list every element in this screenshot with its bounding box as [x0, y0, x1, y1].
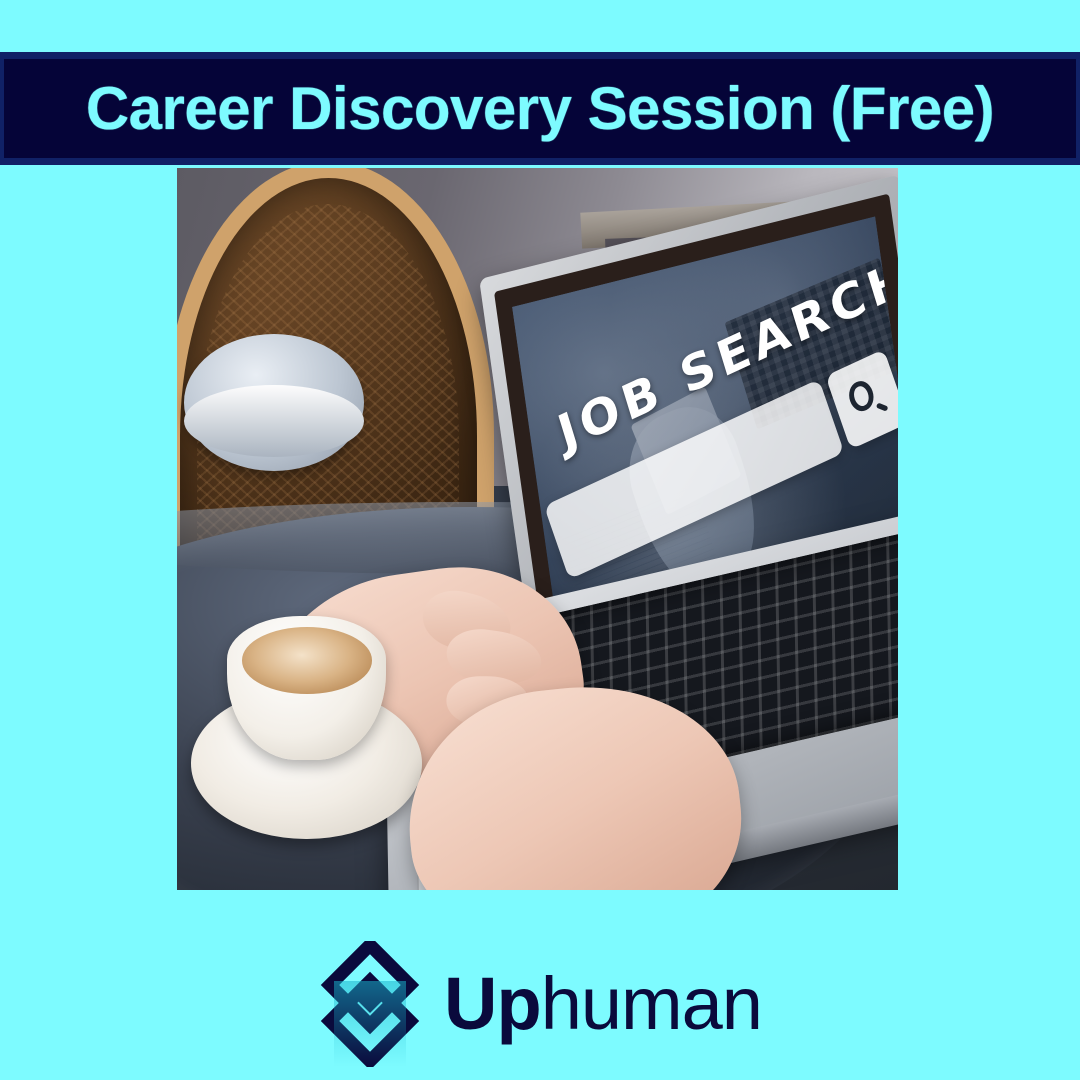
hero-photo: JOB SEARCH [177, 168, 898, 890]
magnifier-handle [876, 402, 889, 411]
brand-logo: Up human [0, 928, 1080, 1080]
title-banner: Career Discovery Session (Free) [0, 52, 1080, 165]
magnifier-lens [846, 377, 877, 415]
photo-scene: JOB SEARCH [177, 168, 898, 890]
coffee-cup [227, 616, 386, 760]
uphuman-double-diamond-icon [318, 941, 422, 1067]
page-title: Career Discovery Session (Free) [86, 79, 994, 139]
side-table-edge [184, 385, 364, 457]
magnifier-icon [846, 373, 889, 425]
logo-word-up: Up [444, 967, 541, 1041]
logo-wordmark: Up human [444, 967, 762, 1041]
coffee-surface [242, 627, 372, 693]
logo-word-human: human [541, 967, 762, 1041]
logo-mark-glow [334, 981, 406, 1067]
